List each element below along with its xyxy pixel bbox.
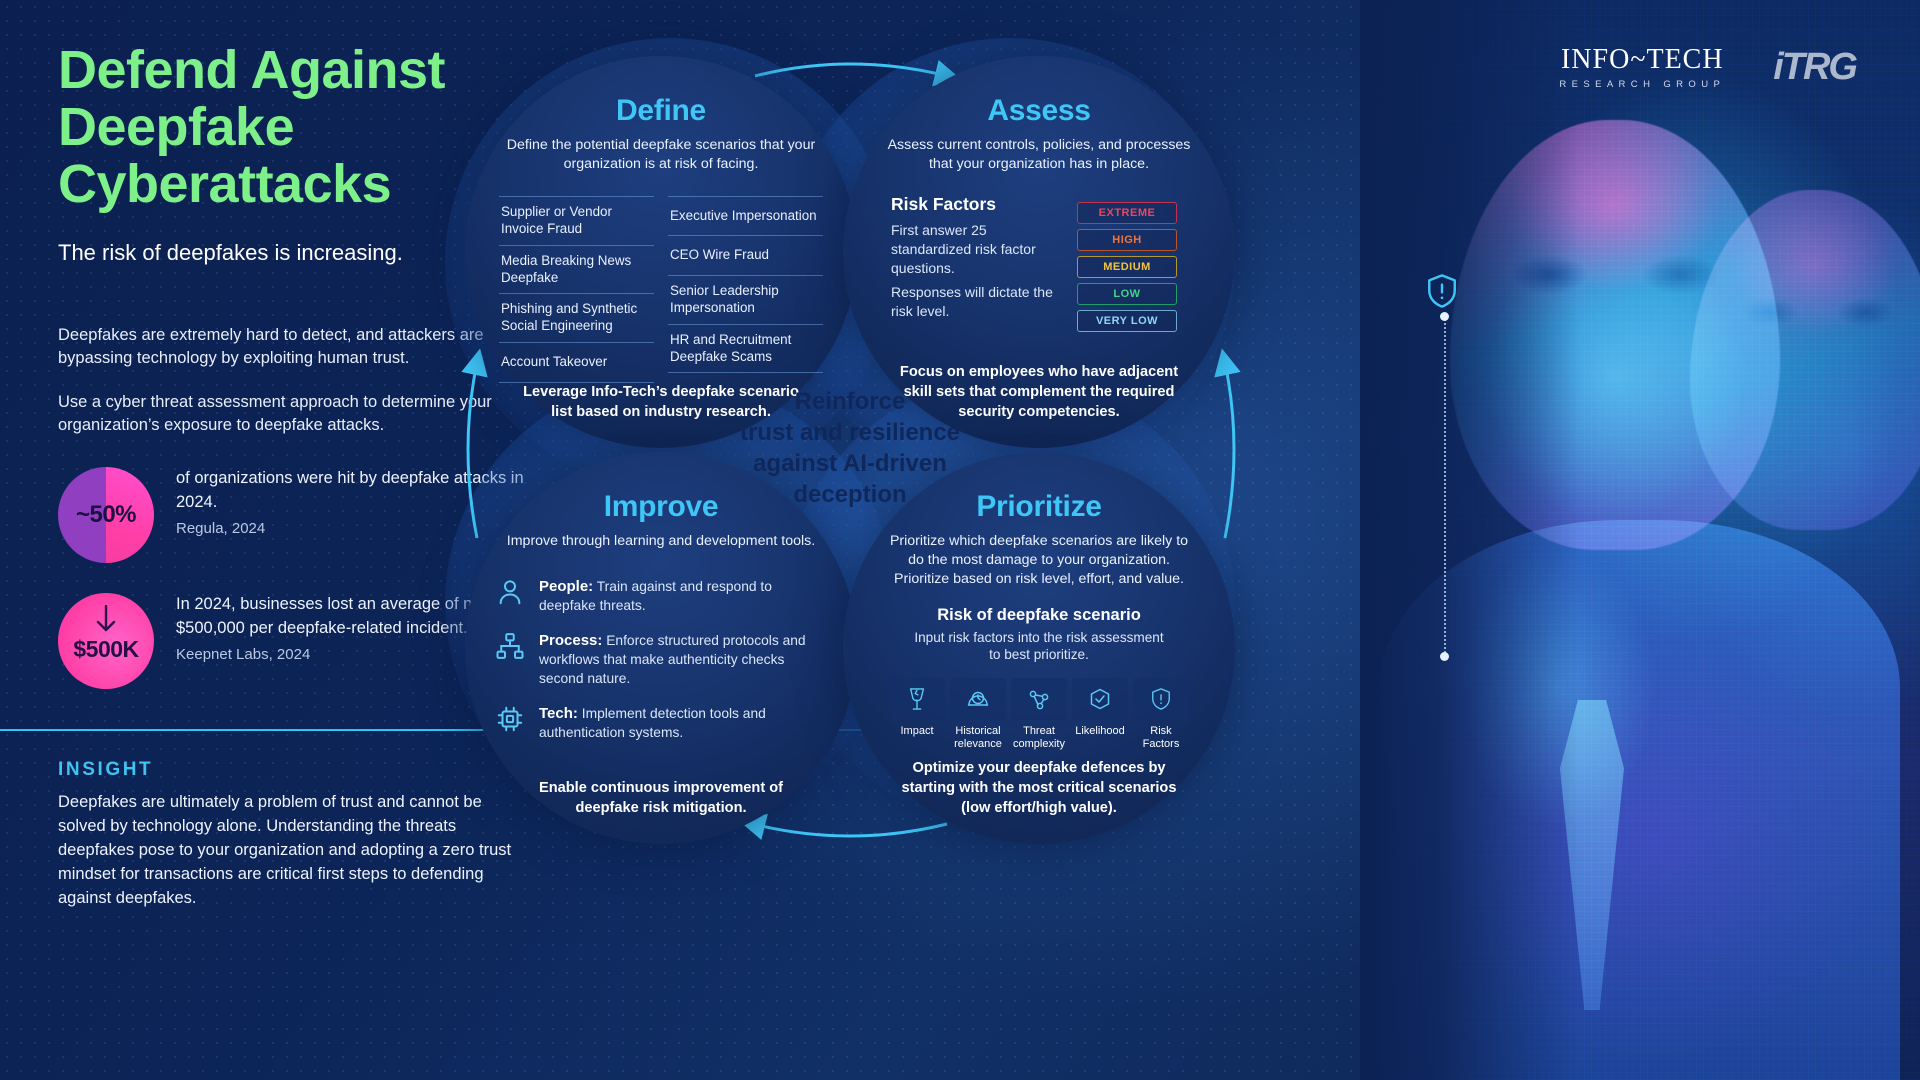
risk-level-badge: HIGH [1077, 229, 1177, 251]
infographic-canvas: INFO~TECH RESEARCH GROUP iTRG Defend Aga… [0, 0, 1920, 1080]
define-scenario-cell: Account Takeover [499, 343, 654, 383]
risk-level-badge: EXTREME [1077, 202, 1177, 224]
down-arrow-icon [95, 605, 117, 635]
prioritize-factor-label: Threat complexity [1011, 725, 1067, 750]
define-footer: Leverage Info-Tech’s deepfake scenario l… [465, 382, 857, 422]
title-line-3: Cyberattacks [58, 154, 391, 214]
improve-item-label: People: [539, 578, 593, 595]
define-subtitle: Define the potential deepfake scenarios … [465, 136, 857, 174]
itrg-logo: iTRG [1773, 46, 1856, 89]
assess-body: Risk Factors First answer 25 standardize… [843, 194, 1209, 332]
person-icon [495, 577, 525, 607]
prioritize-factor-label: Historical relevance [950, 725, 1006, 750]
improve-footer: Enable continuous improvement of deepfak… [465, 778, 857, 818]
cycle-diagram: Define Define the potential deepfake sce… [455, 48, 1245, 848]
quadrant-prioritize[interactable]: Prioritize Prioritize which deepfake sce… [843, 452, 1235, 844]
assess-risk-factors-p2: Responses will dictate the risk level. [891, 283, 1067, 320]
assess-risk-factors-title: Risk Factors [891, 194, 1067, 215]
define-scenario-cell: HR and Recruitment Deepfake Scams [668, 325, 823, 374]
connector-dot-bottom [1440, 652, 1449, 661]
hierarchy-icon [495, 631, 525, 661]
improve-item-process: Process: Enforce structured protocols an… [495, 631, 823, 688]
define-scenario-cell: Senior Leadership Impersonation [668, 276, 823, 325]
prioritize-factor-label: Risk Factors [1133, 725, 1189, 750]
improve-item-text: Process: Enforce structured protocols an… [539, 631, 823, 688]
define-scenarios-left-column: Supplier or Vendor Invoice Fraud Media B… [499, 196, 654, 383]
improve-item-list: People: Train against and respond to dee… [495, 577, 823, 742]
stat-value-percentage: ~50% [76, 501, 136, 529]
improve-item-label: Tech: [539, 705, 578, 722]
logo-group: INFO~TECH RESEARCH GROUP iTRG [1559, 44, 1856, 90]
assess-risk-factors-p1: First answer 25 standardized risk factor… [891, 221, 1067, 277]
assess-footer: Focus on employees who have adjacent ski… [843, 362, 1235, 422]
define-scenario-cell: CEO Wire Fraud [668, 236, 823, 276]
prioritize-factor-label: Impact [889, 725, 945, 738]
define-scenario-cell: Executive Impersonation [668, 196, 823, 236]
risk-level-badge: LOW [1077, 283, 1177, 305]
connector-dot-top [1440, 312, 1449, 321]
quadrant-improve[interactable]: Improve Improve through learning and dev… [465, 452, 857, 844]
chip-icon [495, 704, 525, 734]
check-hexagon-icon [1072, 678, 1128, 720]
assess-risk-factors-text: Risk Factors First answer 25 standardize… [891, 194, 1067, 332]
info-tech-logo-wordmark: INFO~TECH [1559, 44, 1725, 76]
prioritize-subtitle: Prioritize which deepfake scenarios are … [843, 532, 1235, 590]
improve-item-label: Process: [539, 632, 602, 649]
connector-line [1444, 316, 1446, 656]
quadrant-assess[interactable]: Assess Assess current controls, policies… [843, 56, 1235, 448]
clock-icon [950, 678, 1006, 720]
title-line-2: Deepfake [58, 97, 294, 157]
prioritize-factor-historical: Historical relevance [950, 678, 1006, 750]
prioritize-risk-sub: Input risk factors into the risk assessm… [843, 629, 1235, 664]
title-line-1: Defend Against [58, 40, 445, 100]
assess-header: Assess Assess current controls, policies… [843, 56, 1235, 174]
risk-level-badge: VERY LOW [1077, 310, 1177, 332]
quadrant-define[interactable]: Define Define the potential deepfake sce… [465, 56, 857, 448]
assess-risk-level-badges: EXTREMEHIGHMEDIUMLOWVERY LOW [1077, 202, 1177, 332]
stat-value-cost: $500K [73, 636, 138, 663]
define-header: Define Define the potential deepfake sce… [465, 56, 857, 174]
arrow-bottom [753, 824, 947, 836]
risk-level-badge: MEDIUM [1077, 256, 1177, 278]
prioritize-header: Prioritize Prioritize which deepfake sce… [843, 452, 1235, 590]
prioritize-title: Prioritize [843, 490, 1235, 524]
prioritize-factor-icons: Impact Historical relevance [843, 678, 1235, 750]
improve-title: Improve [465, 490, 857, 524]
assess-subtitle: Assess current controls, policies, and p… [843, 136, 1235, 174]
prioritize-factor-impact: Impact [889, 678, 945, 750]
down-arrow-circle-icon: $500K [58, 593, 154, 689]
define-scenario-cell: Phishing and Synthetic Social Engineerin… [499, 294, 654, 343]
prioritize-factor-risk-factors: Risk Factors [1133, 678, 1189, 750]
define-scenarios-right-column: Executive Impersonation CEO Wire Fraud S… [668, 196, 823, 383]
broken-glass-icon [889, 678, 945, 720]
shield-alert-icon [1133, 678, 1189, 720]
prioritize-risk-title: Risk of deepfake scenario [843, 606, 1235, 625]
assess-title: Assess [843, 94, 1235, 128]
prioritize-factor-label: Likelihood [1072, 725, 1128, 738]
improve-item-text: People: Train against and respond to dee… [539, 577, 823, 615]
prioritize-footer: Optimize your deepfake defences by start… [843, 758, 1235, 818]
define-scenario-table: Supplier or Vendor Invoice Fraud Media B… [499, 196, 823, 383]
improve-header: Improve Improve through learning and dev… [465, 452, 857, 551]
pie-chart-half-icon: ~50% [58, 467, 154, 563]
improve-item-people: People: Train against and respond to dee… [495, 577, 823, 615]
info-tech-logo: INFO~TECH RESEARCH GROUP [1559, 44, 1725, 90]
improve-item-text: Tech: Implement detection tools and auth… [539, 704, 823, 742]
prioritize-factor-likelihood: Likelihood [1072, 678, 1128, 750]
define-scenario-cell: Media Breaking News Deepfake [499, 246, 654, 295]
improve-subtitle: Improve through learning and development… [465, 532, 857, 551]
improve-item-tech: Tech: Implement detection tools and auth… [495, 704, 823, 742]
prioritize-risk-block: Risk of deepfake scenario Input risk fac… [843, 606, 1235, 751]
define-scenario-cell: Supplier or Vendor Invoice Fraud [499, 196, 654, 246]
info-tech-logo-tagline: RESEARCH GROUP [1559, 79, 1725, 90]
prioritize-factor-complexity: Threat complexity [1011, 678, 1067, 750]
dotted-connector [1430, 270, 1460, 690]
portrait-left-fade [1360, 0, 1580, 1080]
network-share-icon [1011, 678, 1067, 720]
define-title: Define [465, 94, 857, 128]
